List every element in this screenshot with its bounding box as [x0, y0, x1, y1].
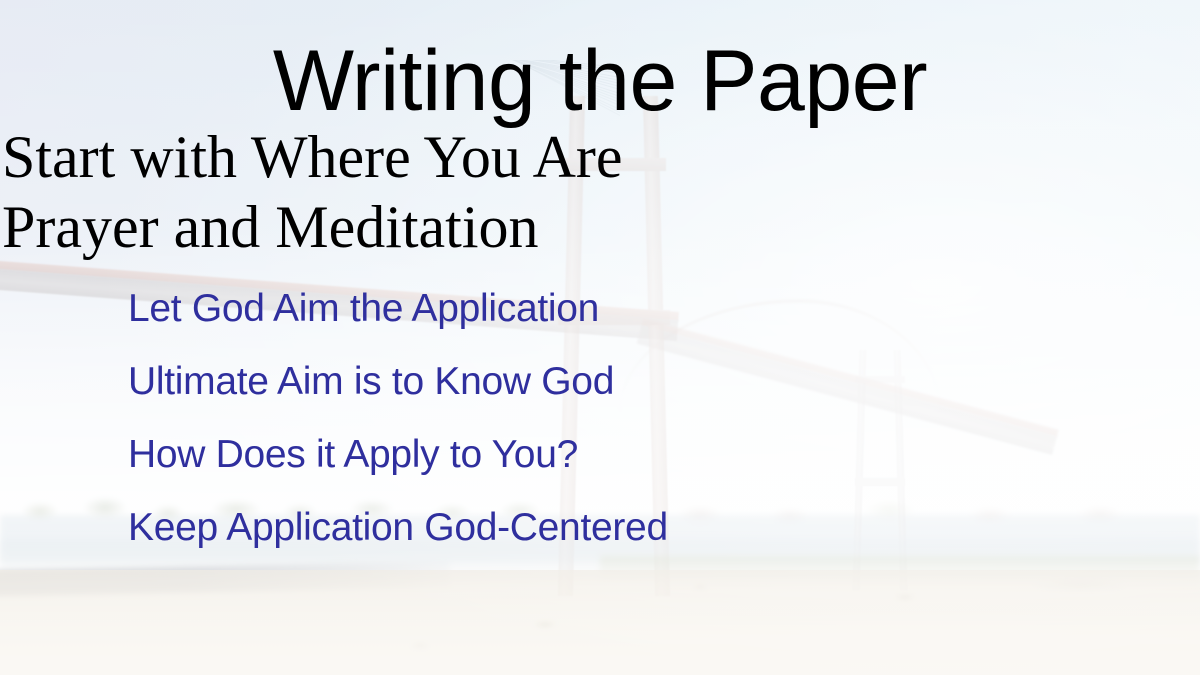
bullet-item-2: Ultimate Aim is to Know God [128, 345, 668, 418]
bullet-item-3: How Does it Apply to You? [128, 418, 668, 491]
subtitle-line-2: Prayer and Meditation [2, 192, 623, 262]
subtitle-line-1: Start with Where You Are [2, 122, 623, 192]
bullet-list: Let God Aim the Application Ultimate Aim… [128, 272, 668, 564]
bullet-item-1: Let God Aim the Application [128, 272, 668, 345]
bullet-item-4: Keep Application God-Centered [128, 491, 668, 564]
slide-text-layer: Writing the Paper Start with Where You A… [0, 0, 1200, 675]
slide-subtitle: Start with Where You Are Prayer and Medi… [2, 122, 623, 262]
presentation-slide: Writing the Paper Start with Where You A… [0, 0, 1200, 675]
slide-title: Writing the Paper [0, 38, 1200, 124]
